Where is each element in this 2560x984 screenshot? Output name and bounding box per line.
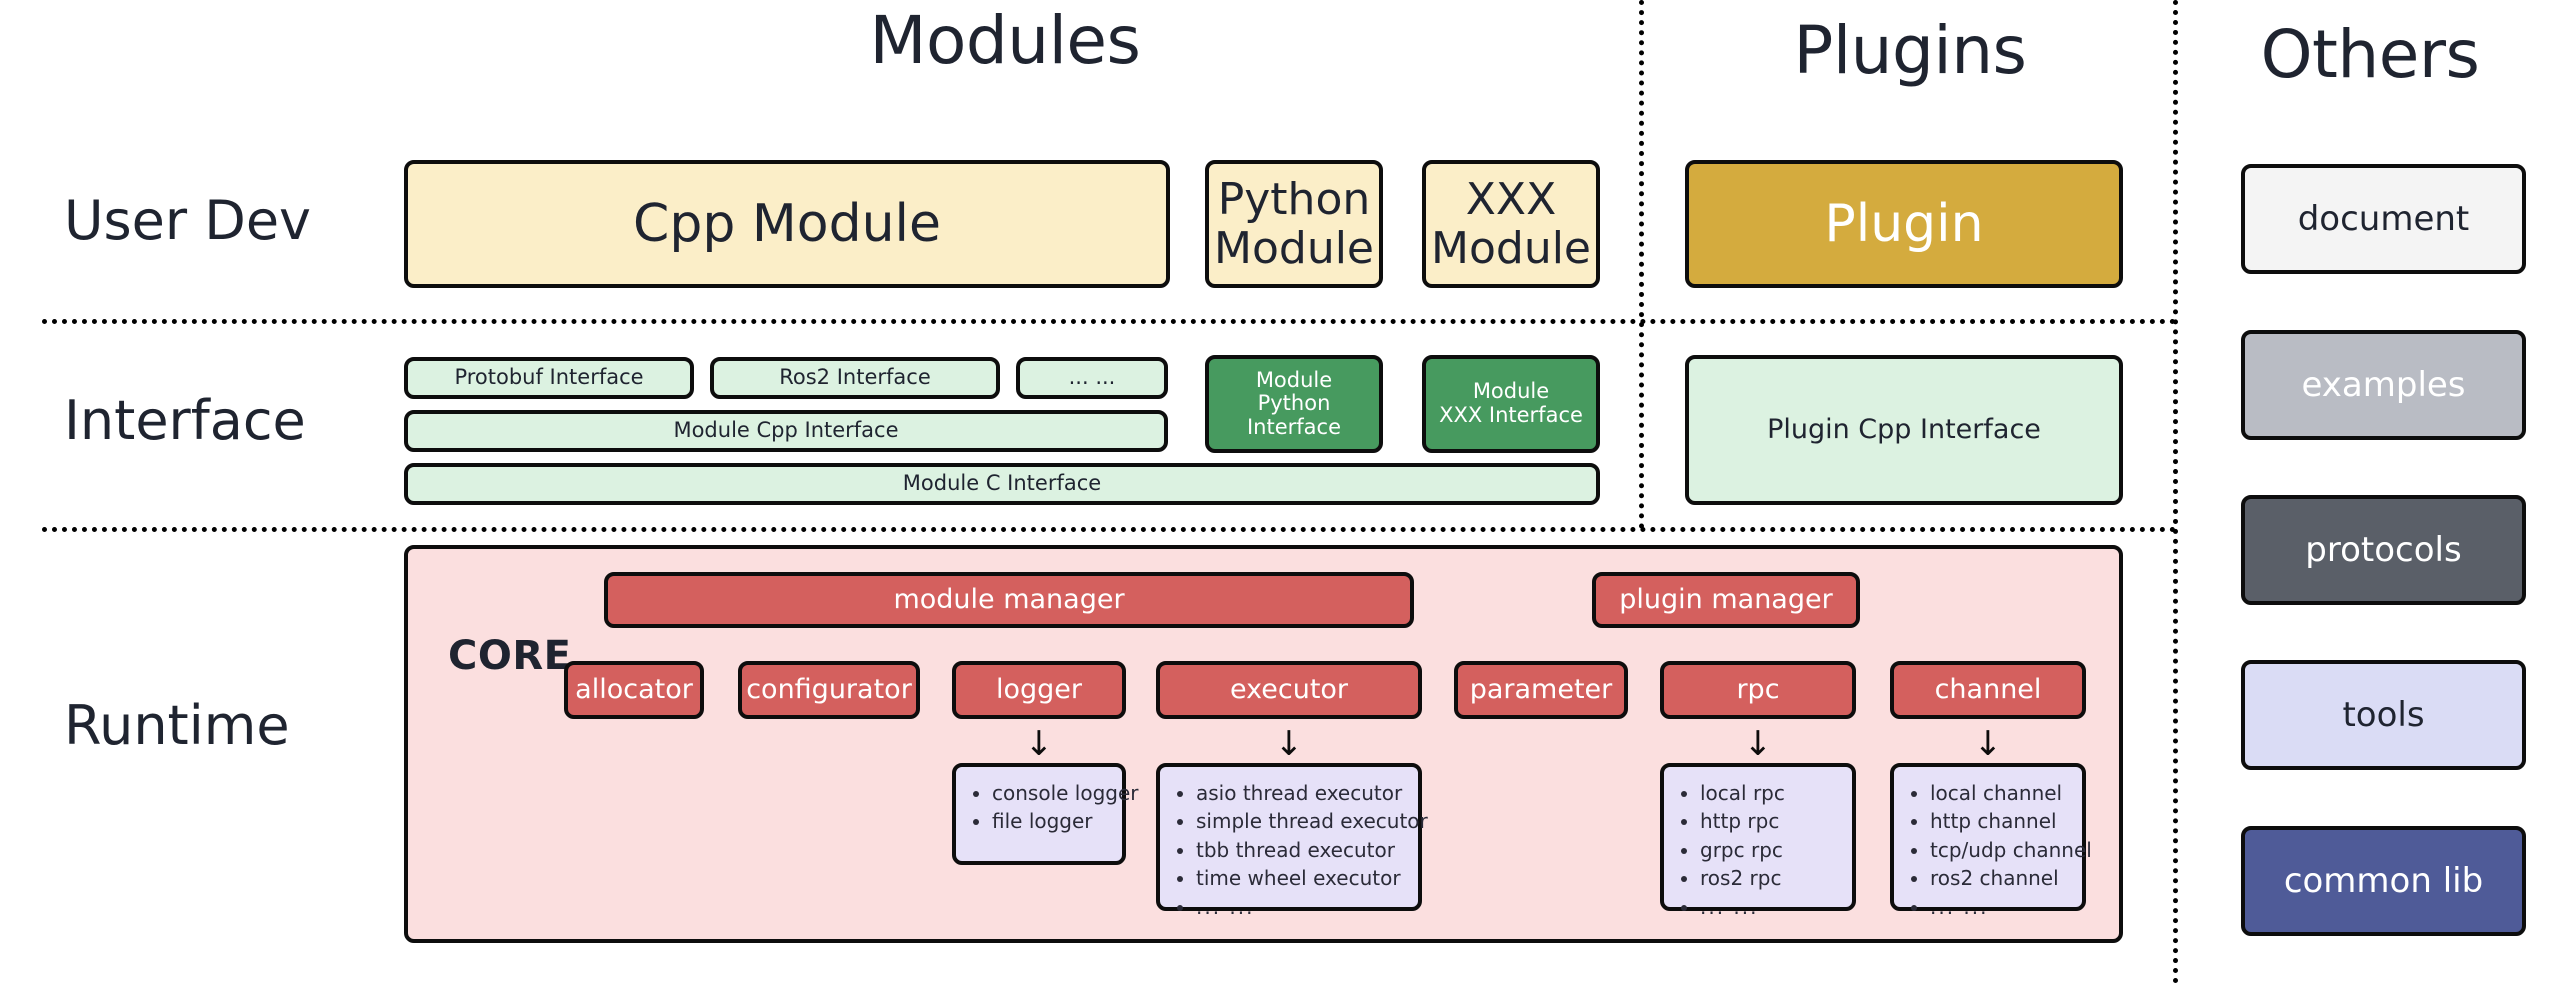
detail-list-item: local channel xyxy=(1930,779,2072,807)
detail-list-item: http channel xyxy=(1930,807,2072,835)
detail-list-item: local rpc xyxy=(1700,779,1842,807)
detail-list-item: simple thread executor xyxy=(1196,807,1408,835)
detail-list-item: ros2 channel xyxy=(1930,864,2072,892)
box-other-interface-ellipsis[interactable]: ... ... xyxy=(1016,357,1168,399)
arrow-down-icon-rpc: ↓ xyxy=(1718,725,1798,763)
detail-list-item: file logger xyxy=(992,807,1112,835)
architecture-diagram: Modules Plugins Others User Dev Interfac… xyxy=(0,0,2560,984)
detail-list-item: http rpc xyxy=(1700,807,1842,835)
arrow-down-icon-logger: ↓ xyxy=(999,725,1079,763)
box-others-examples[interactable]: examples xyxy=(2241,330,2526,440)
detail-list-item: tcp/udp channel xyxy=(1930,836,2072,864)
box-module-manager[interactable]: module manager xyxy=(604,572,1414,628)
detail-list-item: time wheel executor xyxy=(1196,864,1408,892)
box-module-python-interface[interactable]: Module Python Interface xyxy=(1205,355,1383,453)
xxx-module-label-line2: Module xyxy=(1431,224,1591,273)
detail-list-item: asio thread executor xyxy=(1196,779,1408,807)
box-cpp-module[interactable]: Cpp Module xyxy=(404,160,1170,288)
divider-modules-plugins xyxy=(1639,0,1644,529)
divider-plugins-others xyxy=(2173,0,2178,984)
row-label-interface: Interface xyxy=(64,385,394,455)
arrow-down-icon-channel: ↓ xyxy=(1948,725,2028,763)
detail-box-channel: local channelhttp channeltcp/udp channel… xyxy=(1890,763,2086,911)
detail-list-item: grpc rpc xyxy=(1700,836,1842,864)
detail-list-item: tbb thread executor xyxy=(1196,836,1408,864)
box-executor[interactable]: executor xyxy=(1156,661,1422,719)
row-label-runtime: Runtime xyxy=(64,690,394,760)
box-parameter[interactable]: parameter xyxy=(1454,661,1628,719)
module-python-interface-line2: Python Interface xyxy=(1215,392,1373,439)
box-plugin-manager[interactable]: plugin manager xyxy=(1592,572,1860,628)
box-others-tools[interactable]: tools xyxy=(2241,660,2526,770)
detail-list-logger: console loggerfile logger xyxy=(966,779,1112,836)
detail-list-rpc: local rpchttp rpcgrpc rpcros2 rpc... ... xyxy=(1674,779,1842,921)
detail-list-item: ... ... xyxy=(1700,893,1842,921)
column-header-others: Others xyxy=(2190,22,2550,88)
core-label: CORE xyxy=(448,633,571,679)
column-header-modules: Modules xyxy=(380,8,1630,74)
box-others-document[interactable]: document xyxy=(2241,164,2526,274)
core-panel: CORE module manager plugin manager alloc… xyxy=(404,545,2123,943)
detail-list-item: console logger xyxy=(992,779,1112,807)
arrow-down-icon-executor: ↓ xyxy=(1249,725,1329,763)
divider-userdev-interface xyxy=(42,319,2177,324)
detail-box-rpc: local rpchttp rpcgrpc rpcros2 rpc... ... xyxy=(1660,763,1856,911)
box-ros2-interface[interactable]: Ros2 Interface xyxy=(710,357,1000,399)
box-plugin-cpp-interface[interactable]: Plugin Cpp Interface xyxy=(1685,355,2123,505)
box-module-cpp-interface[interactable]: Module Cpp Interface xyxy=(404,410,1168,452)
module-xxx-interface-line1: Module xyxy=(1473,380,1549,404)
python-module-label-line2: Module xyxy=(1214,224,1374,273)
divider-interface-runtime xyxy=(42,527,2177,532)
box-xxx-module[interactable]: XXX Module xyxy=(1422,160,1600,288)
box-plugin[interactable]: Plugin xyxy=(1685,160,2123,288)
box-logger[interactable]: logger xyxy=(952,661,1126,719)
detail-box-executor: asio thread executorsimple thread execut… xyxy=(1156,763,1422,911)
python-module-label-line1: Python xyxy=(1218,175,1371,224)
box-others-common-lib[interactable]: common lib xyxy=(2241,826,2526,936)
box-allocator[interactable]: allocator xyxy=(564,661,704,719)
row-label-user-dev: User Dev xyxy=(64,185,394,255)
detail-list-item: ros2 rpc xyxy=(1700,864,1842,892)
box-others-protocols[interactable]: protocols xyxy=(2241,495,2526,605)
box-protobuf-interface[interactable]: Protobuf Interface xyxy=(404,357,694,399)
box-module-xxx-interface[interactable]: Module XXX Interface xyxy=(1422,355,1600,453)
detail-list-item: ... ... xyxy=(1930,893,2072,921)
box-module-c-interface[interactable]: Module C Interface xyxy=(404,463,1600,505)
detail-list-executor: asio thread executorsimple thread execut… xyxy=(1170,779,1408,921)
module-xxx-interface-line2: XXX Interface xyxy=(1439,404,1583,428)
xxx-module-label-line1: XXX xyxy=(1466,175,1556,224)
box-python-module[interactable]: Python Module xyxy=(1205,160,1383,288)
box-rpc[interactable]: rpc xyxy=(1660,661,1856,719)
detail-box-logger: console loggerfile logger xyxy=(952,763,1126,865)
column-header-plugins: Plugins xyxy=(1660,18,2160,84)
module-python-interface-line1: Module xyxy=(1256,369,1332,393)
detail-list-item: ... ... xyxy=(1196,893,1408,921)
box-configurator[interactable]: configurator xyxy=(738,661,920,719)
detail-list-channel: local channelhttp channeltcp/udp channel… xyxy=(1904,779,2072,921)
box-channel[interactable]: channel xyxy=(1890,661,2086,719)
